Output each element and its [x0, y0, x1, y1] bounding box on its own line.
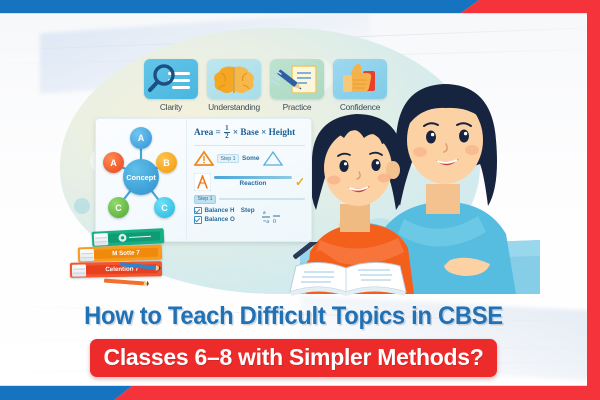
checklist-side-label: Step	[241, 207, 255, 214]
checkbox-icon[interactable]	[194, 216, 202, 224]
tile-label: Understanding	[207, 102, 261, 112]
whiteboard-notes: Area = 1 2 × Base × Height Step 1 S	[187, 119, 311, 241]
step-chip: Step 1	[194, 195, 216, 204]
tile-background	[270, 59, 324, 99]
top-accent-bar	[0, 0, 600, 13]
bottom-edge-line	[0, 385, 587, 386]
book-pages	[94, 233, 109, 246]
fraction-one-half: 1 2	[224, 125, 230, 141]
tile-clarity[interactable]: Clarity	[144, 59, 198, 112]
pencil-note-icon	[270, 59, 324, 99]
open-notebook	[288, 242, 408, 304]
concept-map-node-right: B	[156, 152, 177, 173]
background-paper: Clarity Understanding	[0, 14, 587, 386]
headline-line-1: How to Teach Difficult Topics in CBSE	[15, 302, 573, 331]
whiteboard: Concept A B C C A	[95, 118, 312, 242]
headline-pill: Classes 6–8 with Simpler Methods?	[90, 339, 498, 377]
svg-text:0: 0	[273, 219, 276, 225]
headline-line-2: Classes 6–8 with Simpler Methods?	[104, 344, 484, 370]
concept-map: Concept A B C C A	[96, 119, 187, 241]
concept-map-node-bottom-left: C	[108, 197, 129, 218]
book-orange: M Sotte 7	[78, 245, 162, 263]
triangle-outline-icon	[262, 150, 284, 167]
svg-text:a: a	[263, 210, 266, 216]
checklist: Balance H Balance O	[194, 207, 235, 226]
brain-icon	[207, 59, 261, 99]
book-red: Celention 7	[70, 261, 162, 278]
benefit-tiles: Clarity Understanding	[144, 59, 387, 112]
equation-scribble-icon: a =a 0	[261, 207, 281, 225]
book-spine: M Sotte 7	[94, 248, 158, 259]
concept-map-node-top: A	[130, 127, 152, 149]
tile-label: Practice	[270, 102, 324, 112]
book-pages	[72, 264, 86, 276]
divider	[219, 198, 305, 199]
book-spine	[108, 231, 160, 243]
svg-text:=a: =a	[263, 219, 269, 225]
triangle-step-row: Step 1 Some	[194, 149, 305, 169]
book-stack: M Sotte 7 Celention 7	[58, 230, 168, 292]
concept-map-node-left: A	[103, 152, 124, 173]
pencil-lead	[147, 281, 149, 287]
orange-pencil	[104, 279, 144, 286]
check-mark-icon: ✓	[295, 175, 305, 189]
warning-triangle-icon	[194, 150, 214, 167]
banner-image: Clarity Understanding	[0, 0, 600, 400]
right-accent-bar	[587, 0, 600, 400]
tile-practice[interactable]: Practice	[270, 59, 324, 112]
tile-background	[144, 59, 198, 99]
book-emblem-icon	[117, 233, 126, 242]
tile-background	[207, 59, 261, 99]
concept-map-node-bottom-right: C	[154, 197, 175, 218]
checkbox-icon[interactable]	[194, 207, 202, 215]
area-formula: Area = 1 2 × Base × Height	[194, 125, 305, 141]
progress-bar	[214, 176, 292, 179]
magnifier-icon	[144, 59, 198, 99]
tile-understanding[interactable]: Understanding	[207, 59, 261, 112]
headline-block: How to Teach Difficult Topics in CBSE Cl…	[0, 302, 587, 377]
held-pencil	[292, 242, 328, 260]
thumbs-up-icon	[333, 59, 387, 99]
top-edge-line	[0, 13, 587, 14]
book-pages	[80, 248, 94, 260]
reaction-label: Reaction	[214, 180, 292, 187]
checklist-item[interactable]: Balance H	[194, 207, 235, 215]
some-label: Some	[242, 155, 259, 162]
tile-confidence[interactable]: Confidence	[333, 59, 387, 112]
checklist-item[interactable]: Balance O	[194, 216, 235, 224]
bottom-accent-bar	[0, 386, 600, 400]
concept-map-center: Concept	[123, 159, 159, 195]
divider	[194, 145, 305, 146]
compass-icon	[194, 173, 211, 191]
tile-label: Confidence	[333, 102, 387, 112]
reaction-row: Reaction ✓	[194, 172, 305, 192]
tile-background	[333, 59, 387, 99]
tile-label: Clarity	[144, 102, 198, 112]
step-chip: Step 1	[217, 154, 239, 163]
